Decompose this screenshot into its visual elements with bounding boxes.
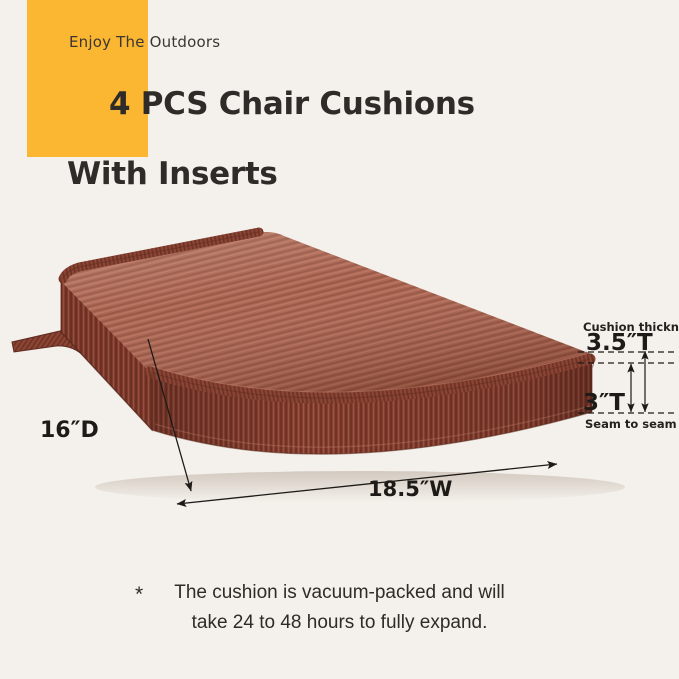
- footnote-line-1: The cushion is vacuum-packed and will: [0, 578, 679, 608]
- cushion-thickness-caption: Cushion thickness: [583, 320, 679, 334]
- seam-to-seam-caption: Seam to seam: [585, 417, 677, 431]
- infographic-canvas: Enjoy The Outdoors 4 PCS Chair Cushions …: [0, 0, 679, 679]
- footnote: * The cushion is vacuum-packed and will …: [0, 578, 679, 638]
- width-label: 18.5″W: [368, 477, 452, 501]
- thickness-seam-label: 3″T: [583, 390, 625, 416]
- product-drop-shadow: [95, 471, 625, 503]
- depth-label: 16″D: [40, 418, 99, 443]
- footnote-line-2: take 24 to 48 hours to fully expand.: [0, 608, 679, 638]
- footnote-asterisk: *: [135, 580, 143, 610]
